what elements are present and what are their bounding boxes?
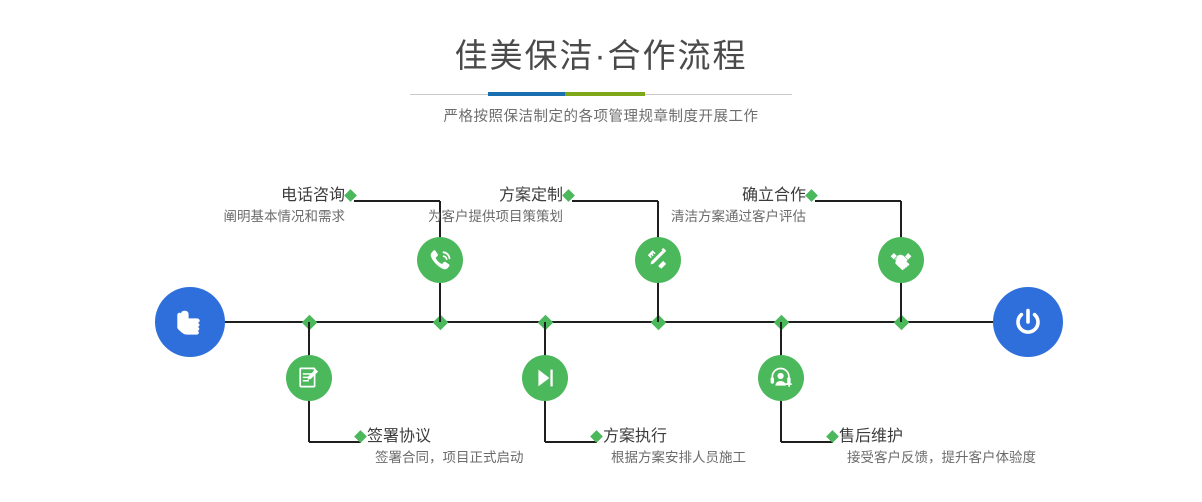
phone-call-icon [427, 247, 453, 273]
flow-start-node[interactable] [155, 287, 225, 357]
document-pen-icon [296, 365, 322, 391]
step-icon-handshake[interactable] [878, 237, 924, 283]
step-icon-support[interactable] [758, 355, 804, 401]
step-icon-plan[interactable] [635, 237, 681, 283]
step-title: 售后维护 [839, 426, 1179, 448]
step-icon-execute[interactable] [522, 355, 568, 401]
pencil-ruler-icon [645, 247, 671, 273]
power-icon [1008, 302, 1048, 342]
step-label-bottom-3: 售后维护 接受客户反馈，提升客户体验度 [839, 426, 1179, 468]
step-icon-sign[interactable] [286, 355, 332, 401]
play-step-icon [532, 365, 558, 391]
flow-end-node[interactable] [993, 287, 1063, 357]
headset-support-icon [768, 365, 794, 391]
connector-horizontal [815, 200, 901, 202]
connector-horizontal [781, 441, 833, 443]
step-label-top-3: 确立合作 清洁方案通过客户评估 [496, 185, 806, 227]
connector-horizontal [545, 441, 597, 443]
pointing-hand-icon [170, 302, 210, 342]
step-desc: 接受客户反馈，提升客户体验度 [839, 448, 1179, 468]
step-title: 确立合作 [496, 185, 806, 207]
process-flow: 电话咨询 阐明基本情况和需求 [0, 0, 1202, 502]
flowchart-infographic: 佳美保洁·合作流程 严格按照保洁制定的各项管理规章制度开展工作 [0, 0, 1202, 502]
step-icon-phone[interactable] [417, 237, 463, 283]
step-desc: 清洁方案通过客户评估 [496, 207, 806, 227]
connector-horizontal [309, 441, 361, 443]
handshake-icon [888, 247, 914, 273]
